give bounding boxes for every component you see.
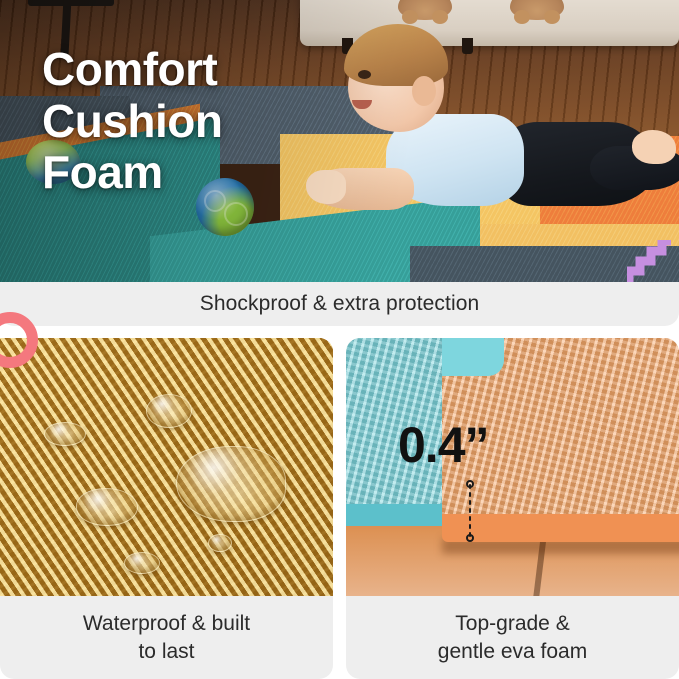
waterproof-photo	[0, 338, 333, 596]
water-droplet	[146, 394, 192, 428]
water-droplet	[124, 552, 160, 574]
hero-photo: Comfort Cushion Foam	[0, 0, 679, 282]
waterproof-caption-line: to last	[138, 640, 194, 663]
hero-headline: Comfort Cushion Foam	[42, 44, 222, 199]
feature-card-waterproof: Waterproof & built to last	[0, 338, 333, 679]
hero-card: Comfort Cushion Foam	[0, 0, 679, 282]
baby-hand	[306, 170, 346, 204]
baby-ear	[412, 76, 436, 106]
foam-tile-orange-edge	[442, 514, 679, 542]
water-droplet	[176, 446, 286, 522]
eva-foam-caption-line: gentle eva foam	[438, 640, 587, 663]
hero-caption: Shockproof & extra protection	[0, 282, 679, 326]
baby-eye	[358, 70, 371, 79]
hero-headline-line: Comfort	[42, 44, 222, 96]
eva-foam-caption: Top-grade & gentle eva foam	[346, 596, 679, 679]
thickness-label: 0.4”	[398, 416, 489, 474]
measurement-line-icon	[464, 480, 476, 542]
hero-headline-line: Cushion	[42, 96, 222, 148]
foam-tile-notch	[442, 338, 504, 376]
water-droplet	[44, 422, 86, 446]
feature-card-eva-foam: 0.4” Top-grade & gentle eva foam	[346, 338, 679, 679]
hero-headline-line: Foam	[42, 147, 222, 199]
baby	[300, 18, 679, 258]
teddy-bear-toy	[510, 0, 564, 20]
foam-scene: 0.4”	[346, 338, 679, 596]
teddy-bear-toy	[398, 0, 452, 20]
product-infographic: Comfort Cushion Foam Shockproof & extra …	[0, 0, 679, 679]
water-droplet	[76, 488, 138, 526]
eva-foam-photo: 0.4”	[346, 338, 679, 596]
waterproof-caption-line: Waterproof & built	[83, 612, 250, 635]
feature-cards: Waterproof & built to last 0.4”	[0, 338, 679, 679]
woven-foam-texture	[0, 338, 333, 596]
waterproof-caption: Waterproof & built to last	[0, 596, 333, 679]
baby-foot	[632, 130, 676, 164]
water-droplet	[208, 534, 232, 552]
eva-foam-caption-line: Top-grade &	[455, 612, 569, 635]
